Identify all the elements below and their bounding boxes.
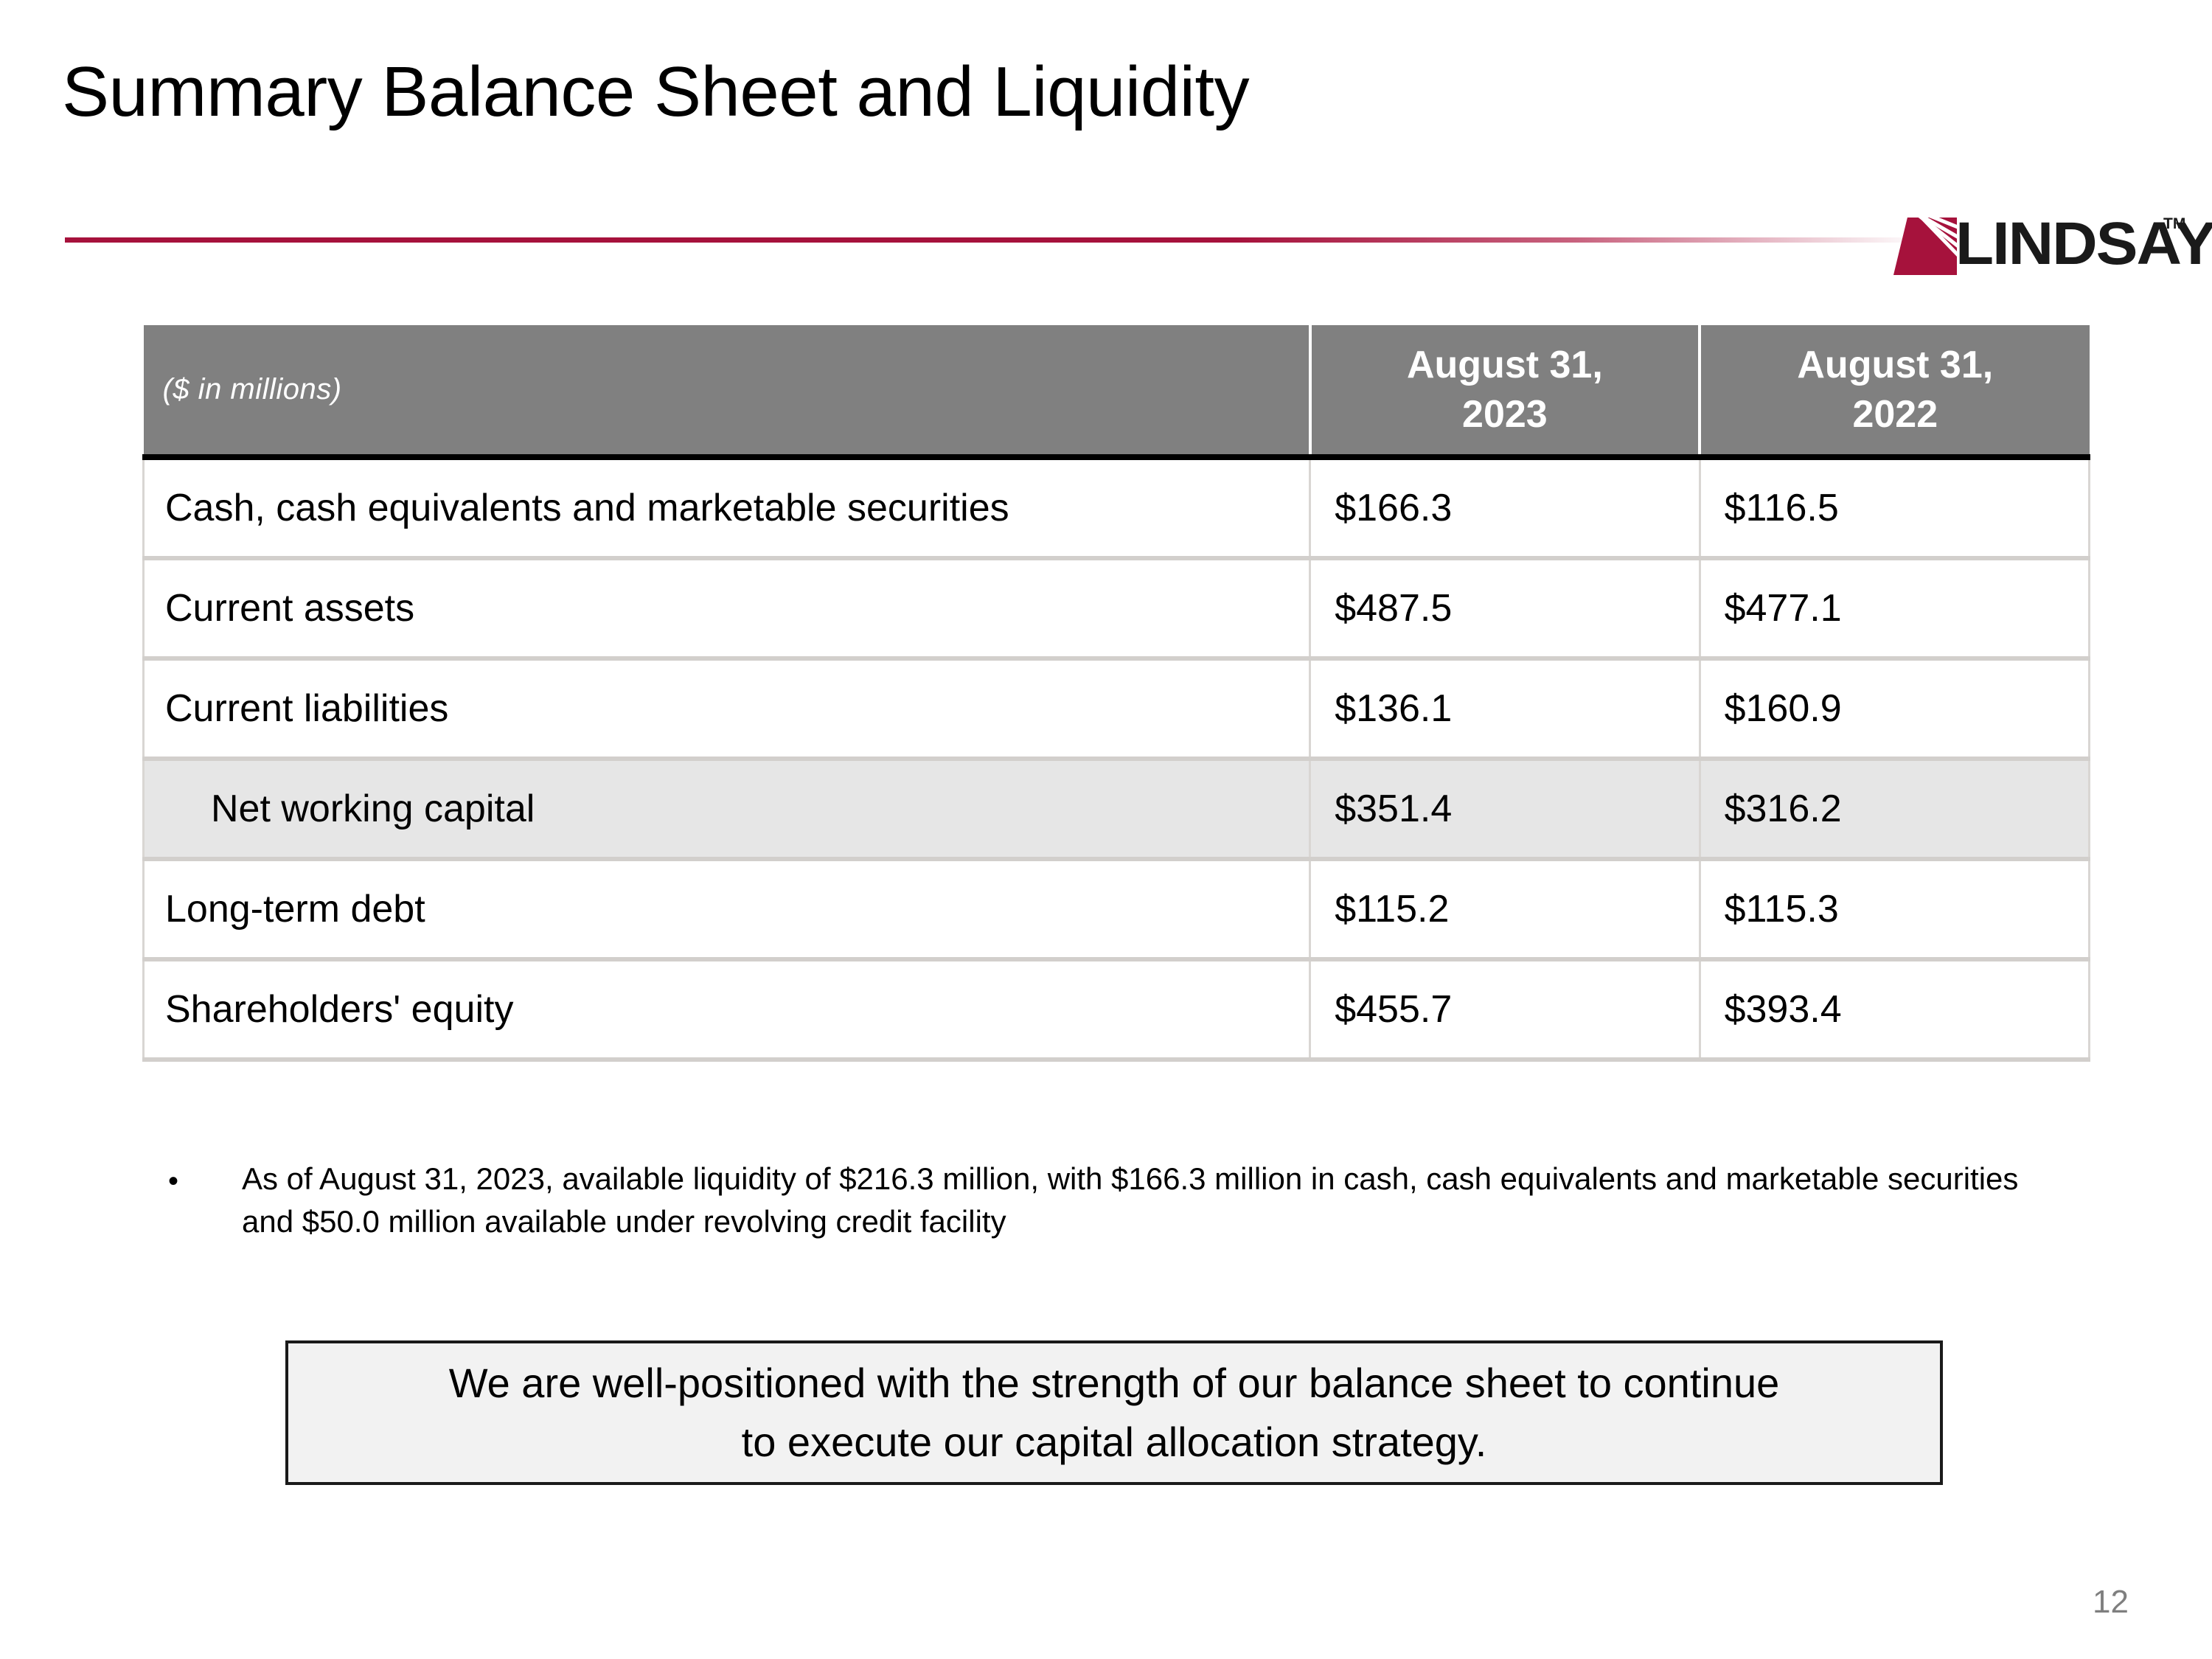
column-header-2023-line2: 2023 (1462, 393, 1548, 436)
column-header-2022: August 31, 2022 (1700, 325, 2089, 457)
row-label: Shareholders' equity (144, 959, 1310, 1060)
row-value-2022: $316.2 (1700, 759, 2089, 859)
row-label: Net working capital (144, 759, 1310, 859)
row-label: Current assets (144, 558, 1310, 658)
bullet-text: As of August 31, 2023, available liquidi… (242, 1158, 2019, 1243)
column-header-2023: August 31, 2023 (1310, 325, 1700, 457)
callout-box: We are well-positioned with the strength… (285, 1340, 1943, 1485)
row-value-2022: $393.4 (1700, 959, 2089, 1060)
header-divider-rule (65, 237, 1952, 243)
row-value-2023: $487.5 (1310, 558, 1700, 658)
page-number: 12 (2093, 1584, 2129, 1621)
table-row: Cash, cash equivalents and marketable se… (144, 457, 2090, 558)
callout-line-1: We are well-positioned with the strength… (449, 1360, 1780, 1406)
liquidity-bullet-list: • As of August 31, 2023, available liqui… (168, 1158, 2056, 1243)
table-row-highlighted: Net working capital $351.4 $316.2 (144, 759, 2090, 859)
row-value-2023: $166.3 (1310, 457, 1700, 558)
trademark-symbol: TM (2163, 215, 2185, 233)
table-unit-label: ($ in millions) (144, 325, 1310, 457)
callout-text: We are well-positioned with the strength… (428, 1354, 1801, 1471)
row-label: Long-term debt (144, 859, 1310, 959)
row-label: Cash, cash equivalents and marketable se… (144, 457, 1310, 558)
table-row: Current liabilities $136.1 $160.9 (144, 658, 2090, 759)
column-header-2023-line1: August 31, (1407, 344, 1603, 386)
table-row: Long-term debt $115.2 $115.3 (144, 859, 2090, 959)
lindsay-logo-mark-icon (1893, 218, 1957, 275)
row-value-2022: $115.3 (1700, 859, 2089, 959)
row-value-2023: $455.7 (1310, 959, 1700, 1060)
lindsay-logo: LINDSAY TM (1893, 209, 2178, 286)
row-value-2023: $351.4 (1310, 759, 1700, 859)
callout-line-2: to execute our capital allocation strate… (742, 1419, 1487, 1465)
row-value-2022: $477.1 (1700, 558, 2089, 658)
row-value-2023: $136.1 (1310, 658, 1700, 759)
row-value-2022: $160.9 (1700, 658, 2089, 759)
table-row: Current assets $487.5 $477.1 (144, 558, 2090, 658)
balance-sheet-table: ($ in millions) August 31, 2023 August 3… (142, 325, 2090, 1062)
table-header-row: ($ in millions) August 31, 2023 August 3… (144, 325, 2090, 457)
column-header-2022-line2: 2022 (1852, 393, 1938, 436)
list-item: • As of August 31, 2023, available liqui… (168, 1158, 2056, 1243)
bullet-marker-icon: • (168, 1158, 242, 1205)
row-value-2023: $115.2 (1310, 859, 1700, 959)
row-label: Current liabilities (144, 658, 1310, 759)
page-title: Summary Balance Sheet and Liquidity (62, 53, 1249, 131)
column-header-2022-line1: August 31, (1797, 344, 1993, 386)
table-row: Shareholders' equity $455.7 $393.4 (144, 959, 2090, 1060)
row-value-2022: $116.5 (1700, 457, 2089, 558)
